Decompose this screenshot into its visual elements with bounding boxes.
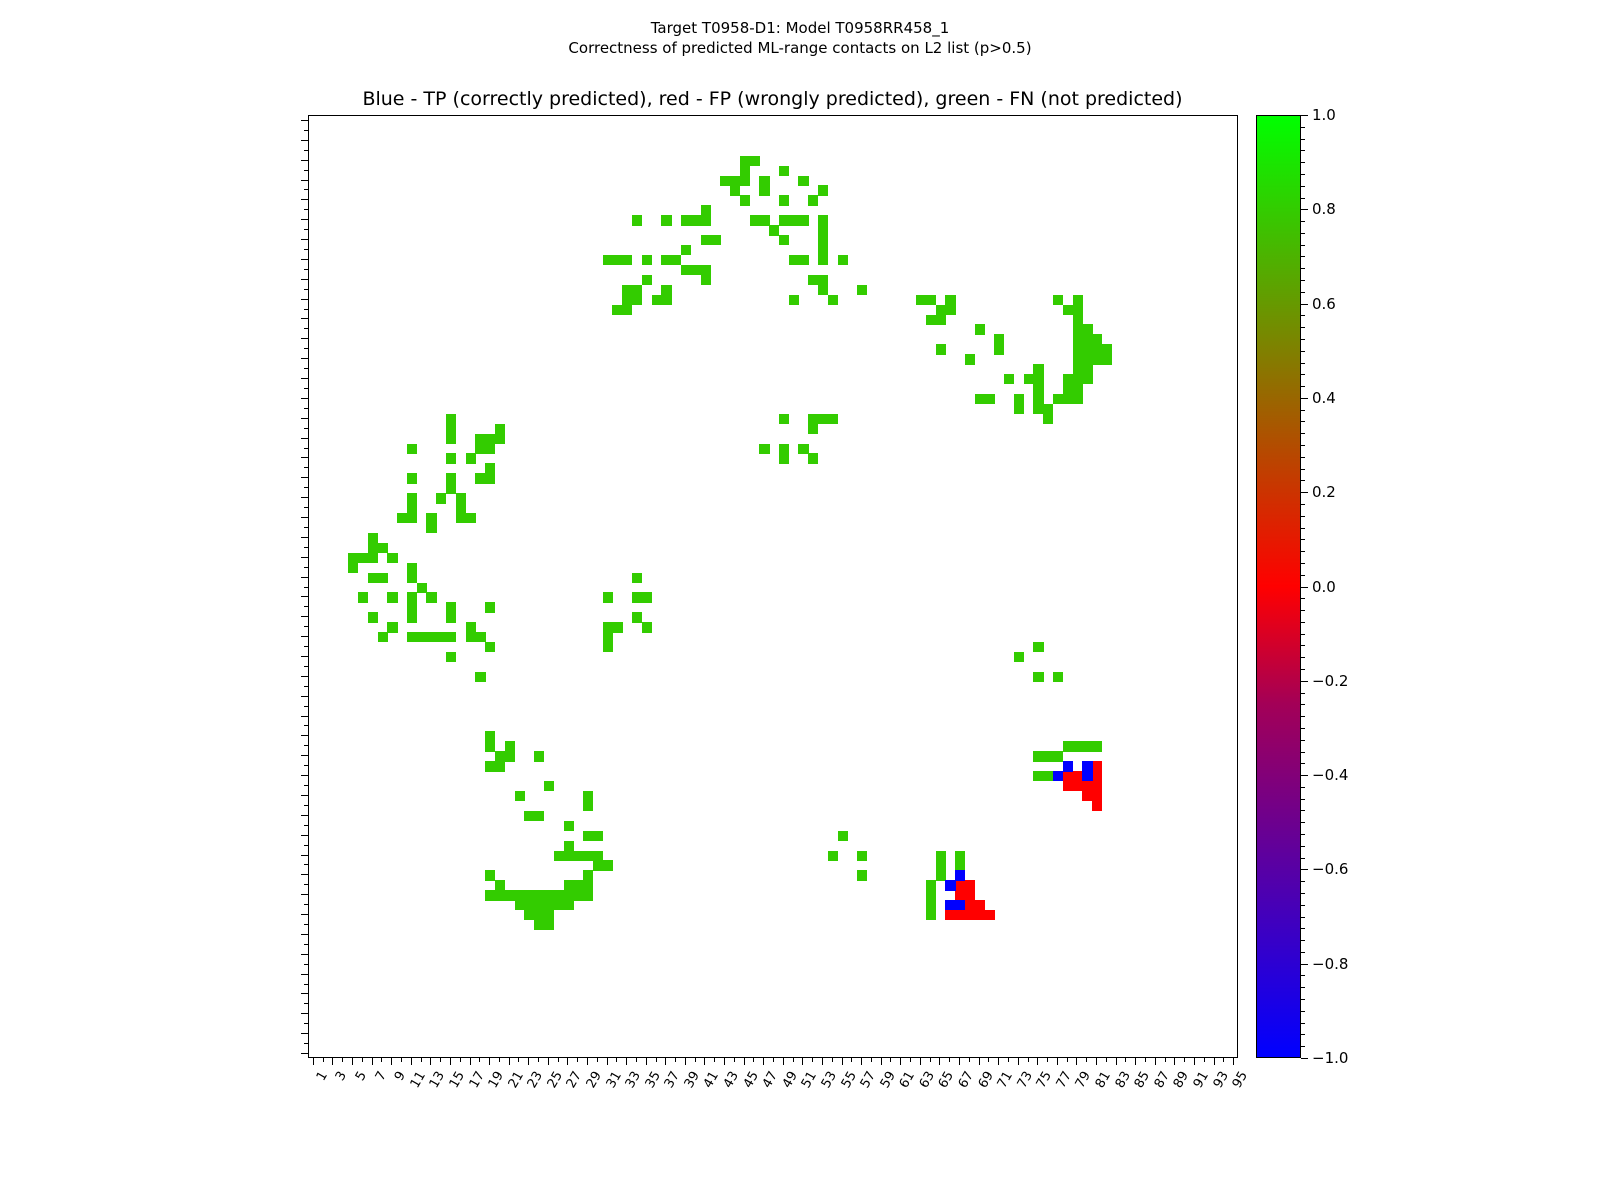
y-axis-tick-mark xyxy=(304,765,308,766)
contact-cell-fn xyxy=(965,354,975,364)
contact-cell-fn xyxy=(622,295,632,305)
colorbar-minor-tick-mark xyxy=(1301,374,1305,375)
x-axis-tick-mark xyxy=(567,1058,568,1065)
y-axis-tick-mark xyxy=(304,944,308,945)
y-axis-tick-mark xyxy=(304,686,308,687)
contact-cell-fn xyxy=(466,632,476,642)
colorbar-tick-label: 0.6 xyxy=(1312,295,1336,313)
colorbar-minor-tick-mark xyxy=(1301,634,1305,635)
contact-cell-fn xyxy=(407,602,417,612)
y-axis-tick-mark xyxy=(304,507,308,508)
y-axis-tick-mark xyxy=(301,755,308,756)
colorbar-minor-tick-mark xyxy=(1301,162,1305,163)
contact-cell-fp xyxy=(1092,781,1102,791)
x-axis-tick-mark xyxy=(822,1058,823,1065)
contact-cell-fn xyxy=(387,622,397,632)
x-axis-tick-mark xyxy=(949,1058,950,1062)
y-axis-tick-mark xyxy=(304,229,308,230)
contact-cell-fn xyxy=(564,880,574,890)
y-axis-tick-mark xyxy=(304,328,308,329)
x-axis-tick-mark xyxy=(372,1058,373,1065)
contact-cell-fn xyxy=(475,632,485,642)
y-axis-tick-mark xyxy=(301,299,308,300)
contact-cell-fn xyxy=(632,295,642,305)
contact-cell-fn xyxy=(368,553,378,563)
contact-cell-fn xyxy=(808,453,818,463)
colorbar-tick-label: 1.0 xyxy=(1312,106,1336,124)
colorbar-tick-label: −0.4 xyxy=(1312,766,1348,784)
contact-cell-tp xyxy=(945,880,955,890)
contact-cell-fn xyxy=(1092,344,1102,354)
contact-cell-fp xyxy=(975,900,985,910)
x-axis-tick-mark xyxy=(832,1058,833,1062)
contact-cell-fn xyxy=(642,255,652,265)
contact-cell-fn xyxy=(456,493,466,503)
contact-cell-fn xyxy=(583,791,593,801)
colorbar-minor-tick-mark xyxy=(1301,858,1305,859)
colorbar-gradient xyxy=(1256,115,1301,1058)
contact-cell-fn xyxy=(622,285,632,295)
contact-cell-fn xyxy=(1033,364,1043,374)
x-axis-tick-mark xyxy=(626,1058,627,1065)
y-axis-tick-mark xyxy=(304,467,308,468)
y-axis-tick-mark xyxy=(304,527,308,528)
x-axis-tick-mark xyxy=(665,1058,666,1065)
x-axis-tick-mark xyxy=(1116,1058,1117,1065)
contact-cell-fn xyxy=(994,344,1004,354)
y-axis-tick-mark xyxy=(301,974,308,975)
y-axis-tick-mark xyxy=(301,338,308,339)
contact-cell-fn xyxy=(378,543,388,553)
contact-cell-fn xyxy=(926,910,936,920)
contact-cell-fn xyxy=(936,315,946,325)
contact-cell-fn xyxy=(387,592,397,602)
contact-cell-fn xyxy=(1033,642,1043,652)
contact-cell-fp xyxy=(1073,771,1083,781)
y-axis-tick-mark xyxy=(304,626,308,627)
contact-cell-fn xyxy=(1063,305,1073,315)
colorbar-minor-tick-mark xyxy=(1301,339,1305,340)
contact-cell-fn xyxy=(1053,751,1063,761)
colorbar-minor-tick-mark xyxy=(1301,127,1305,128)
contact-cell-fn xyxy=(1053,394,1063,404)
contact-map-figure: Target T0958-D1: Model T0958RR458_1 Corr… xyxy=(0,0,1600,1200)
contact-cell-fn xyxy=(564,821,574,831)
contact-cell-fn xyxy=(1014,394,1024,404)
y-axis-tick-mark xyxy=(304,388,308,389)
colorbar-minor-tick-mark xyxy=(1301,150,1305,151)
contact-cell-fn xyxy=(632,285,642,295)
contact-cell-fn xyxy=(779,414,789,424)
x-axis-tick-mark xyxy=(1125,1058,1126,1062)
contact-cell-fn xyxy=(818,275,828,285)
contact-cell-fn xyxy=(798,444,808,454)
contact-cell-fn xyxy=(348,563,358,573)
contact-cell-fn xyxy=(808,414,818,424)
contact-cell-fn xyxy=(936,305,946,315)
contact-cell-fn xyxy=(1024,374,1034,384)
contact-cell-fn xyxy=(485,731,495,741)
contact-cell-fn xyxy=(838,255,848,265)
y-axis-tick-mark xyxy=(304,170,308,171)
contact-cell-fn xyxy=(358,553,368,563)
contact-cell-fn xyxy=(1082,324,1092,334)
contact-cell-fn xyxy=(681,265,691,275)
contact-cell-fn xyxy=(661,285,671,295)
colorbar-minor-tick-mark xyxy=(1301,480,1305,481)
contact-cell-fn xyxy=(740,176,750,186)
y-axis-tick-mark xyxy=(304,547,308,548)
contact-cell-fp xyxy=(955,890,965,900)
contact-cell-fn xyxy=(544,910,554,920)
colorbar-minor-tick-mark xyxy=(1301,799,1305,800)
contact-cell-fn xyxy=(661,295,671,305)
contact-cell-fn xyxy=(524,900,534,910)
contact-cell-fn xyxy=(1033,404,1043,414)
contact-cell-fn xyxy=(1073,364,1083,374)
y-axis-tick-mark xyxy=(304,745,308,746)
contact-cell-fn xyxy=(495,751,505,761)
y-axis-tick-mark xyxy=(304,1003,308,1004)
contact-cell-fn xyxy=(534,811,544,821)
contact-cell-fn xyxy=(750,156,760,166)
contact-cell-fn xyxy=(798,255,808,265)
contact-cell-fn xyxy=(818,255,828,265)
contact-cell-fn xyxy=(534,920,544,930)
colorbar-minor-tick-mark xyxy=(1301,233,1305,234)
contact-cell-fn xyxy=(1033,374,1043,384)
y-axis-tick-mark xyxy=(304,428,308,429)
x-axis-tick-mark xyxy=(479,1058,480,1062)
x-axis-tick-mark xyxy=(763,1058,764,1065)
contact-cell-fn xyxy=(397,513,407,523)
contact-cell-tp xyxy=(955,870,965,880)
x-axis-tick-mark xyxy=(1174,1058,1175,1065)
contact-cell-tp xyxy=(955,900,965,910)
x-axis-tick-mark xyxy=(793,1058,794,1062)
contact-cell-fn xyxy=(681,245,691,255)
colorbar-minor-tick-mark xyxy=(1301,551,1305,552)
contact-cell-fn xyxy=(407,513,417,523)
contact-cell-fn xyxy=(593,831,603,841)
contact-cell-fn xyxy=(436,632,446,642)
x-axis-tick-mark xyxy=(773,1058,774,1062)
colorbar-minor-tick-mark xyxy=(1301,810,1305,811)
x-axis-tick-mark xyxy=(1145,1058,1146,1062)
contact-cell-fp xyxy=(984,910,994,920)
contact-cell-fn xyxy=(759,185,769,195)
colorbar-minor-tick-mark xyxy=(1301,292,1305,293)
colorbar-minor-tick-mark xyxy=(1301,1034,1305,1035)
contact-cell-fn xyxy=(818,215,828,225)
y-axis-tick-mark xyxy=(301,239,308,240)
contact-cell-fn xyxy=(701,275,711,285)
contact-cell-fn xyxy=(534,751,544,761)
contact-cell-fn xyxy=(564,900,574,910)
colorbar-minor-tick-mark xyxy=(1301,657,1305,658)
contact-cell-fn xyxy=(407,563,417,573)
y-axis: 1357911131517192123252729313335373941434… xyxy=(0,115,308,1058)
contact-cell-fn xyxy=(984,394,994,404)
contact-cell-fn xyxy=(710,235,720,245)
contact-cell-fn xyxy=(926,880,936,890)
contact-cell-fn xyxy=(505,751,515,761)
x-axis-tick-mark xyxy=(1135,1058,1136,1065)
contact-cell-fn xyxy=(779,215,789,225)
contact-cell-fn xyxy=(456,503,466,513)
y-axis-tick-mark xyxy=(301,835,308,836)
contact-cell-fn xyxy=(759,444,769,454)
colorbar-minor-tick-mark xyxy=(1301,893,1305,894)
x-axis-tick-mark xyxy=(675,1058,676,1062)
colorbar-minor-tick-mark xyxy=(1301,952,1305,953)
contact-cell-fn xyxy=(1073,295,1083,305)
x-axis-tick-mark xyxy=(753,1058,754,1062)
contact-cell-fp xyxy=(1082,791,1092,801)
contact-cell-fn xyxy=(720,176,730,186)
y-axis-tick-mark xyxy=(304,666,308,667)
contact-cell-fn xyxy=(740,156,750,166)
x-axis-tick-mark xyxy=(489,1058,490,1065)
y-axis-tick-mark xyxy=(304,348,308,349)
y-axis-tick-mark xyxy=(304,924,308,925)
colorbar-minor-tick-mark xyxy=(1301,1046,1305,1047)
x-axis-tick-mark xyxy=(881,1058,882,1065)
colorbar-minor-tick-mark xyxy=(1301,280,1305,281)
contact-cell-fn xyxy=(622,305,632,315)
contact-cell-fp xyxy=(955,880,965,890)
contact-cell-fn xyxy=(485,473,495,483)
contact-cell-fn xyxy=(485,602,495,612)
contact-cell-fn xyxy=(603,632,613,642)
contact-map-plot-area[interactable] xyxy=(308,115,1238,1058)
contact-cell-fn xyxy=(583,890,593,900)
x-axis-tick-mark xyxy=(900,1058,901,1065)
contact-cell-fn xyxy=(554,900,564,910)
y-axis-tick-mark xyxy=(304,1043,308,1044)
colorbar-minor-tick-mark xyxy=(1301,445,1305,446)
contact-cell-fn xyxy=(387,553,397,563)
x-axis-tick-mark xyxy=(1223,1058,1224,1062)
x-axis-tick-mark xyxy=(861,1058,862,1065)
x-axis-tick-mark xyxy=(342,1058,343,1062)
contact-cell-fp xyxy=(1092,801,1102,811)
contact-cell-fn xyxy=(544,900,554,910)
contact-cell-fn xyxy=(1033,751,1043,761)
y-axis-tick-mark xyxy=(301,1053,308,1054)
y-axis-tick-mark xyxy=(301,775,308,776)
contact-cell-fn xyxy=(1033,384,1043,394)
contact-cell-fn xyxy=(1082,334,1092,344)
colorbar-minor-tick-mark xyxy=(1301,693,1305,694)
contact-cell-fn xyxy=(642,275,652,285)
contact-cell-fn xyxy=(426,523,436,533)
x-axis-tick-mark xyxy=(401,1058,402,1062)
contact-cell-fn xyxy=(1014,652,1024,662)
contact-cell-fn xyxy=(544,781,554,791)
contact-cell-fn xyxy=(583,831,593,841)
contact-cell-fn xyxy=(583,880,593,890)
contact-cell-fn xyxy=(524,811,534,821)
contact-cell-fn xyxy=(466,622,476,632)
y-axis-tick-mark xyxy=(301,438,308,439)
contact-cell-fn xyxy=(407,612,417,622)
contact-cell-fn xyxy=(1073,394,1083,404)
contact-cell-fn xyxy=(955,860,965,870)
colorbar-tick-label: −0.6 xyxy=(1312,860,1348,878)
colorbar-minor-tick-mark xyxy=(1301,186,1305,187)
colorbar-tick-label: 0.0 xyxy=(1312,578,1336,596)
colorbar-minor-tick-mark xyxy=(1301,834,1305,835)
y-axis-tick-mark xyxy=(304,269,308,270)
colorbar-minor-tick-mark xyxy=(1301,139,1305,140)
y-axis-tick-mark xyxy=(304,249,308,250)
y-axis-tick-mark xyxy=(301,676,308,677)
colorbar-minor-tick-mark xyxy=(1301,1011,1305,1012)
colorbar-minor-tick-mark xyxy=(1301,940,1305,941)
contact-cell-fn xyxy=(475,473,485,483)
contact-cell-fn xyxy=(505,741,515,751)
contact-cell-fn xyxy=(1053,295,1063,305)
y-axis-tick-mark xyxy=(301,457,308,458)
y-axis-tick-mark xyxy=(304,448,308,449)
y-axis-tick-mark xyxy=(301,934,308,935)
contact-cell-fn xyxy=(642,622,652,632)
colorbar-minor-tick-mark xyxy=(1301,539,1305,540)
x-axis-tick-mark xyxy=(969,1058,970,1062)
x-axis-tick-mark xyxy=(871,1058,872,1062)
contact-cell-fn xyxy=(524,910,534,920)
contact-cell-fn xyxy=(681,215,691,225)
contact-cell-fn xyxy=(808,275,818,285)
contact-cell-fn xyxy=(1073,374,1083,384)
contact-cell-fn xyxy=(583,851,593,861)
contact-cell-fn xyxy=(466,453,476,463)
contact-cell-fn xyxy=(564,841,574,851)
contact-cell-fn xyxy=(1063,384,1073,394)
x-axis: 1357911131517192123252729313335373941434… xyxy=(308,1058,1238,1198)
x-axis-tick-mark xyxy=(332,1058,333,1065)
y-axis-tick-mark xyxy=(301,398,308,399)
contact-cell-fn xyxy=(1082,374,1092,384)
y-axis-tick-mark xyxy=(304,725,308,726)
contact-cell-fn xyxy=(759,215,769,225)
contact-cell-fn xyxy=(495,880,505,890)
x-axis-tick-mark xyxy=(998,1058,999,1065)
contact-cell-tp xyxy=(1053,771,1063,781)
contact-cell-fn xyxy=(446,424,456,434)
contact-cell-fn xyxy=(573,890,583,900)
y-axis-tick-mark xyxy=(304,408,308,409)
contact-cell-tp xyxy=(1063,761,1073,771)
x-axis-tick-mark xyxy=(509,1058,510,1065)
colorbar-minor-tick-mark xyxy=(1301,198,1305,199)
contact-cell-fn xyxy=(632,612,642,622)
colorbar-tick-mark xyxy=(1301,304,1308,305)
x-axis-tick-mark xyxy=(890,1058,891,1062)
contact-cell-fn xyxy=(701,205,711,215)
contact-cell-fn xyxy=(975,394,985,404)
x-axis-tick-mark xyxy=(1008,1058,1009,1062)
colorbar-minor-tick-mark xyxy=(1301,174,1305,175)
y-axis-tick-mark xyxy=(301,716,308,717)
contact-cell-fn xyxy=(632,215,642,225)
contact-cell-fn xyxy=(485,870,495,880)
colorbar-minor-tick-mark xyxy=(1301,245,1305,246)
contact-cell-fn xyxy=(446,434,456,444)
contact-cell-fn xyxy=(446,473,456,483)
y-axis-tick-mark xyxy=(301,735,308,736)
contact-cell-fp xyxy=(965,880,975,890)
x-axis-tick-mark xyxy=(988,1058,989,1062)
contact-cell-fn xyxy=(857,851,867,861)
x-axis-tick-mark xyxy=(313,1058,314,1065)
x-axis-tick-mark xyxy=(1076,1058,1077,1065)
colorbar-minor-tick-mark xyxy=(1301,504,1305,505)
x-axis-tick-mark xyxy=(939,1058,940,1065)
contact-cell-fp xyxy=(975,910,985,920)
x-axis-tick-mark xyxy=(1096,1058,1097,1065)
x-axis-tick-mark xyxy=(323,1058,324,1062)
contact-cell-fn xyxy=(573,851,583,861)
contact-cell-fn xyxy=(417,583,427,593)
colorbar-tick-label: −0.8 xyxy=(1312,955,1348,973)
contact-cell-fn xyxy=(1082,354,1092,364)
contact-cell-fn xyxy=(661,215,671,225)
contact-cell-fn xyxy=(661,255,671,265)
x-axis-tick-mark xyxy=(714,1058,715,1062)
contact-cell-fn xyxy=(926,900,936,910)
x-axis-tick-mark xyxy=(1037,1058,1038,1065)
y-axis-tick-mark xyxy=(304,150,308,151)
contact-cell-fn xyxy=(828,414,838,424)
y-axis-tick-mark xyxy=(301,993,308,994)
contact-cell-tp xyxy=(1082,771,1092,781)
colorbar-tick-mark xyxy=(1301,587,1308,588)
contact-cell-fn xyxy=(945,295,955,305)
x-axis-tick-mark xyxy=(411,1058,412,1065)
y-axis-tick-mark xyxy=(304,567,308,568)
contact-cell-fn xyxy=(426,513,436,523)
contact-cell-fn xyxy=(936,851,946,861)
y-axis-tick-mark xyxy=(301,259,308,260)
x-axis-tick-mark xyxy=(1184,1058,1185,1062)
contact-cell-fp xyxy=(965,900,975,910)
contact-cell-fn xyxy=(1004,374,1014,384)
contact-cell-fn xyxy=(485,434,495,444)
contact-cell-fn xyxy=(544,920,554,930)
contact-cell-fn xyxy=(446,453,456,463)
contact-cell-fn xyxy=(593,860,603,870)
contact-cell-fn xyxy=(1063,394,1073,404)
contact-cell-fn xyxy=(378,573,388,583)
colorbar-minor-tick-mark xyxy=(1301,999,1305,1000)
contact-cell-fn xyxy=(808,424,818,434)
x-axis-tick-mark xyxy=(930,1058,931,1062)
contact-cell-fn xyxy=(1092,334,1102,344)
x-axis-tick-mark xyxy=(979,1058,980,1065)
contact-cell-fn xyxy=(779,166,789,176)
y-axis-tick-mark xyxy=(304,706,308,707)
contact-cell-fn xyxy=(524,890,534,900)
x-axis-tick-mark xyxy=(597,1058,598,1062)
colorbar-minor-tick-mark xyxy=(1301,905,1305,906)
x-axis-tick-mark xyxy=(421,1058,422,1062)
contact-cell-fn xyxy=(426,592,436,602)
y-axis-tick-mark xyxy=(301,636,308,637)
colorbar-minor-tick-mark xyxy=(1301,622,1305,623)
x-axis-tick-mark xyxy=(1057,1058,1058,1065)
